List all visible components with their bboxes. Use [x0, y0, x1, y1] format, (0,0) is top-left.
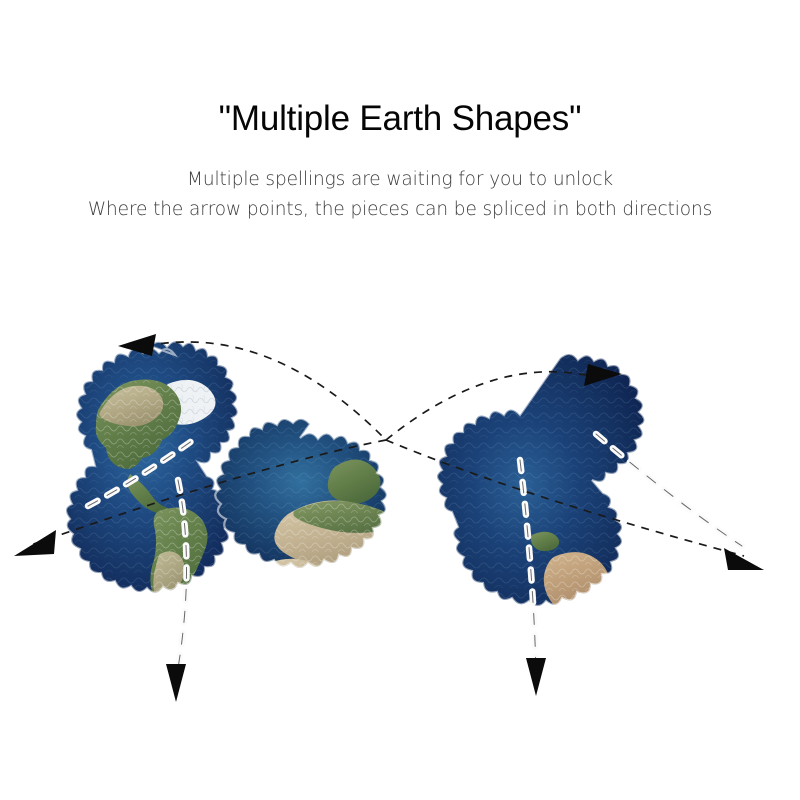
world-map-svg	[0, 318, 800, 768]
arrow-mid-right	[724, 548, 764, 570]
africa	[264, 559, 334, 647]
puzzle-piece-oceania-antarctica[interactable]	[437, 354, 703, 700]
puzzle-world-map	[0, 318, 800, 768]
puzzle-piece-eurasia-africa[interactable]	[215, 419, 448, 651]
antarctica-ice	[598, 609, 703, 700]
subtitle-line-2: Where the arrow points, the pieces can b…	[0, 195, 800, 226]
page-title: "Multiple Earth Shapes"	[0, 100, 800, 139]
subtitle-line-1: Multiple spellings are waiting for you t…	[0, 165, 800, 196]
southeast-asia	[415, 549, 441, 571]
arrow-mid-left	[14, 530, 56, 556]
subtitle-block: Multiple spellings are waiting for you t…	[0, 165, 800, 226]
indonesia	[426, 574, 448, 593]
header: "Multiple Earth Shapes" Multiple spellin…	[0, 0, 800, 226]
puzzle-piece-americas[interactable]	[66, 341, 238, 603]
page-root: "Multiple Earth Shapes" Multiple spellin…	[0, 0, 800, 800]
africa-equatorial	[277, 598, 316, 650]
arrow-bottom-mid	[526, 658, 546, 696]
arrow-bottom-left	[166, 664, 186, 702]
